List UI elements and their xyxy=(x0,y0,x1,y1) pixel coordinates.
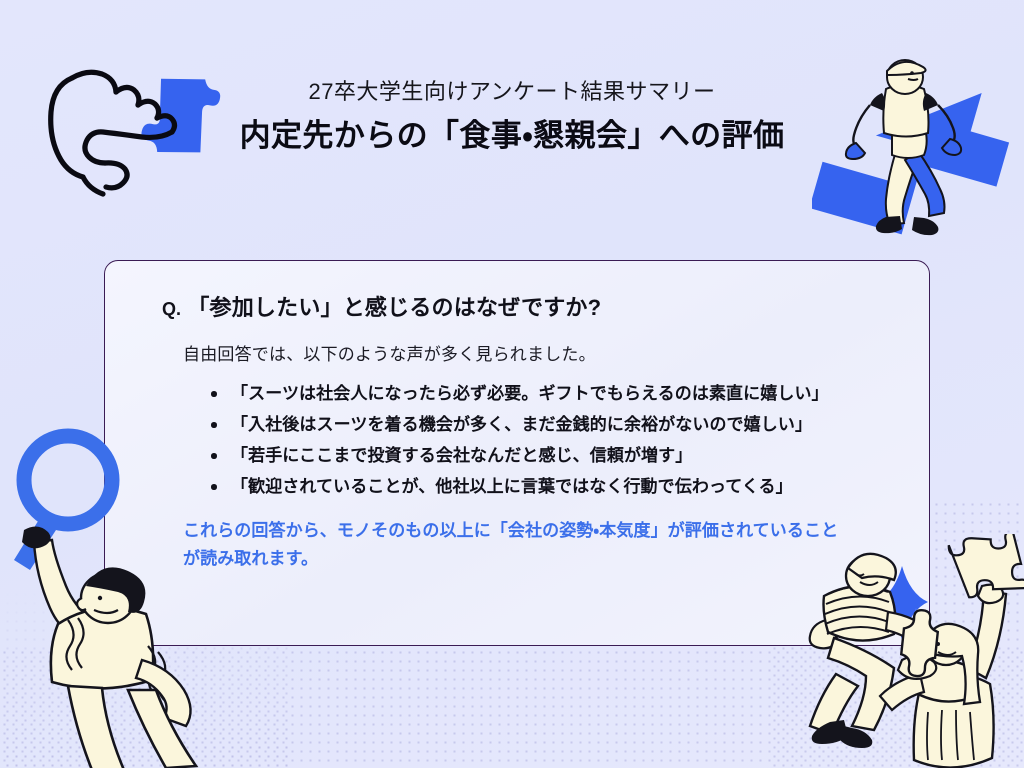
list-item: 「スーツは社会人になったら必ず必要。ギフトでもらえるのは素直に嬉しい」 xyxy=(205,378,829,409)
magnifying-glass-icon xyxy=(14,436,112,570)
question-heading: Q. 「参加したい」と感じるのはなぜですか? xyxy=(162,290,601,322)
quote-list: 「スーツは社会人になったら必ず必要。ギフトでもらえるのは素直に嬉しい」 「入社後… xyxy=(205,378,829,502)
list-item: 「入社後はスーツを着る機会が多く、まだ金銭的に余裕がないので嬉しい」 xyxy=(205,409,829,440)
skirt-pleats xyxy=(927,710,974,760)
slide-canvas: 27卒大学生向けアンケート結果サマリー 内定先からの「食事・懇親会」への評価 Q… xyxy=(0,0,1024,768)
content-card: Q. 「参加したい」と感じるのはなぜですか? 自由回答では、以下のような声が多く… xyxy=(104,260,930,646)
halftone-pattern-bottom xyxy=(0,648,1024,768)
lead-paragraph: 自由回答では、以下のような声が多く見られました。 xyxy=(183,340,596,365)
question-prefix-label: Q. xyxy=(162,299,181,319)
list-item: 「歓迎されていることが、他社以上に言葉ではなく行動で伝わってくる」 xyxy=(205,471,829,502)
list-item: 「若手にここまで投資する会社なんだと感じ、信頼が増す」 xyxy=(205,440,829,471)
slide-title: 内定先からの「食事・懇親会」への評価 xyxy=(0,116,1024,156)
puzzle-piece-icon-upper xyxy=(948,534,1024,599)
question-text: 「参加したい」と感じるのはなぜですか? xyxy=(187,295,601,320)
slide-subtitle: 27卒大学生向けアンケート結果サマリー xyxy=(0,78,1024,107)
slide-header: 27卒大学生向けアンケート結果サマリー 内定先からの「食事・懇親会」への評価 xyxy=(0,78,1024,156)
conclusion-text: これらの回答から、モノそのもの以上に「会社の姿勢・本気度」が評価されていることが… xyxy=(183,517,851,572)
